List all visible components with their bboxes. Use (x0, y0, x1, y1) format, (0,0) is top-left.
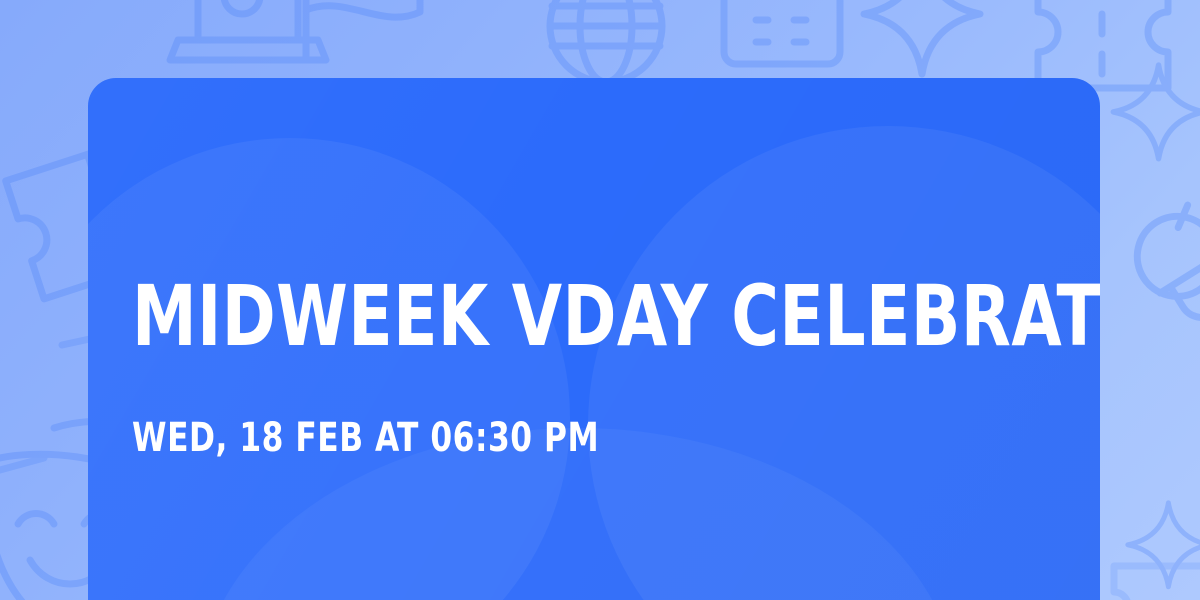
star-icon (1113, 65, 1200, 159)
calendar-icon (724, 0, 840, 64)
sparkle-icon (1128, 503, 1200, 587)
sparkle-icon (864, 0, 980, 74)
event-card: Midweek Vday Celebration Wed, 18 Feb at … (88, 78, 1100, 600)
ticket-icon (1114, 566, 1200, 600)
microphone-icon (1122, 201, 1200, 436)
event-poster: Midweek Vday Celebration Wed, 18 Feb at … (0, 0, 1200, 600)
balloon-icon (1038, 0, 1168, 88)
globe-icon (550, 0, 662, 82)
event-title: Midweek Vday Celebration (132, 274, 1100, 360)
event-card-content: Midweek Vday Celebration Wed, 18 Feb at … (132, 78, 1060, 600)
event-datetime: Wed, 18 Feb at 06:30 PM (132, 416, 599, 460)
